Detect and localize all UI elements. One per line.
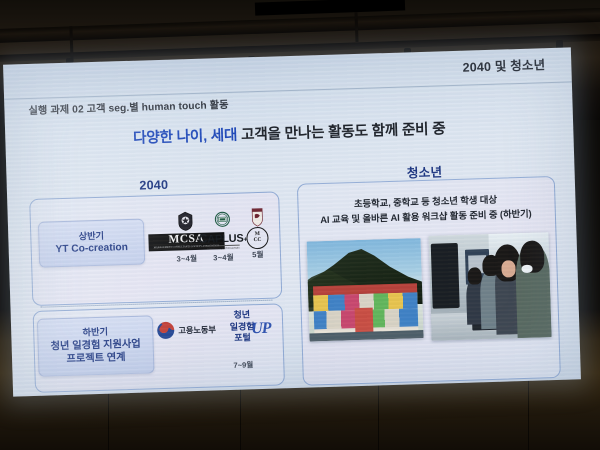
header-divider: [4, 81, 572, 99]
computer-monitor: [431, 243, 459, 309]
logo-date-label: 3~4월: [213, 252, 234, 264]
slide-headline: 다양한 나이, 세대 고객을 만나는 활동도 함께 준비 중: [5, 113, 573, 151]
slide-content: 2040 및 청소년 실행 과제 02 고객 seg.별 human touch…: [3, 47, 581, 396]
left-column-heading: 2040: [59, 175, 249, 195]
aplus-emblem-icon: [214, 210, 232, 231]
student-hair: [468, 267, 482, 285]
headline-rest: 고객을 만나는 활동도 함께 준비 중: [241, 121, 446, 143]
youth-work-experience-portal-logo: 청년 일경험 포털 UP: [207, 309, 278, 346]
students-at-computers-photo: [428, 232, 551, 341]
logo-date-label: 3~4월: [176, 253, 197, 265]
colorful-school-building-photo: [307, 238, 424, 341]
chip-line2: 청년 일경험 지원사업: [50, 337, 140, 353]
portal-date-label: 7~9월: [208, 358, 278, 371]
slide-corner-tag: 2040 및 청소년: [462, 54, 545, 76]
chip-line2: YT Co-creation: [55, 241, 128, 257]
logo-cell-mcc: MCC 5월: [246, 207, 270, 261]
logo-cell-aplus: CAPLUS+ ASIA PLUS CERTIFICATION 3~4월: [198, 209, 249, 263]
chip-line1: 상반기: [78, 230, 104, 243]
photo-of-presentation-screen: 2040 및 청소년 실행 과제 02 고객 seg.별 human touch…: [0, 0, 600, 450]
mcc-cc: CC: [253, 237, 261, 243]
aplus-subtext: ASIA PLUS CERTIFICATION: [207, 245, 240, 250]
aplus-c-glyph: C: [198, 232, 207, 246]
headline-highlight: 다양한 나이, 세대: [133, 128, 241, 147]
chip-second-half-year: 하반기 청년 일경험 지원사업 프로젝트 연계: [37, 315, 155, 377]
taegeuk-icon: [157, 322, 175, 340]
chip-first-half-year: 상반기 YT Co-creation: [38, 219, 145, 268]
mcc-shield-icon: [248, 207, 266, 228]
chip-line1: 하반기: [82, 326, 108, 339]
mcsa-emblem-icon: [177, 211, 195, 232]
school-entrance: [354, 308, 373, 335]
presentation-screen: 2040 및 청소년 실행 과제 02 고객 seg.별 human touch…: [3, 47, 581, 396]
chip-line3: 프로젝트 연계: [66, 351, 125, 366]
logo-date-label: 5월: [252, 249, 264, 260]
mcc-wordmark: MCC: [246, 230, 268, 246]
aplus-wordmark: CAPLUS+ ASIA PLUS CERTIFICATION: [198, 232, 247, 248]
slide-subtitle: 실행 과제 02 고객 seg.별 human touch 활동: [28, 96, 229, 117]
portal-up-mark: UP: [251, 319, 271, 340]
